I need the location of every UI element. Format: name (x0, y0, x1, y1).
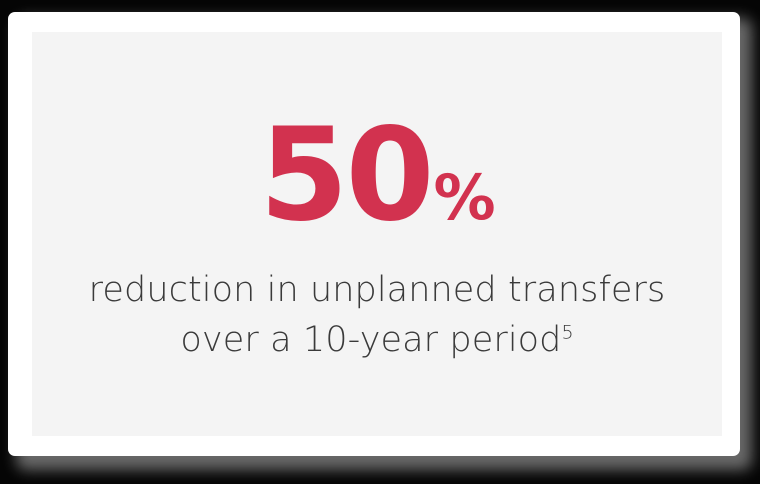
caption-line-1: reduction in unplanned transfers (89, 266, 666, 316)
caption-line-2: over a 10-year period5 (89, 316, 666, 366)
statistic-caption: reduction in unplanned transfers over a … (89, 266, 666, 365)
caption-line-2-text: over a 10-year period (180, 320, 561, 360)
statistic-value: 50 (259, 101, 431, 250)
statistic-figure: 50% (259, 112, 494, 240)
statistic-unit-percent: % (434, 161, 495, 234)
statistic-card: 50% reduction in unplanned transfers ove… (8, 12, 740, 456)
stage-backdrop: 50% reduction in unplanned transfers ove… (0, 0, 760, 484)
footnote-reference: 5 (562, 321, 574, 343)
statistic-panel: 50% reduction in unplanned transfers ove… (32, 32, 722, 436)
